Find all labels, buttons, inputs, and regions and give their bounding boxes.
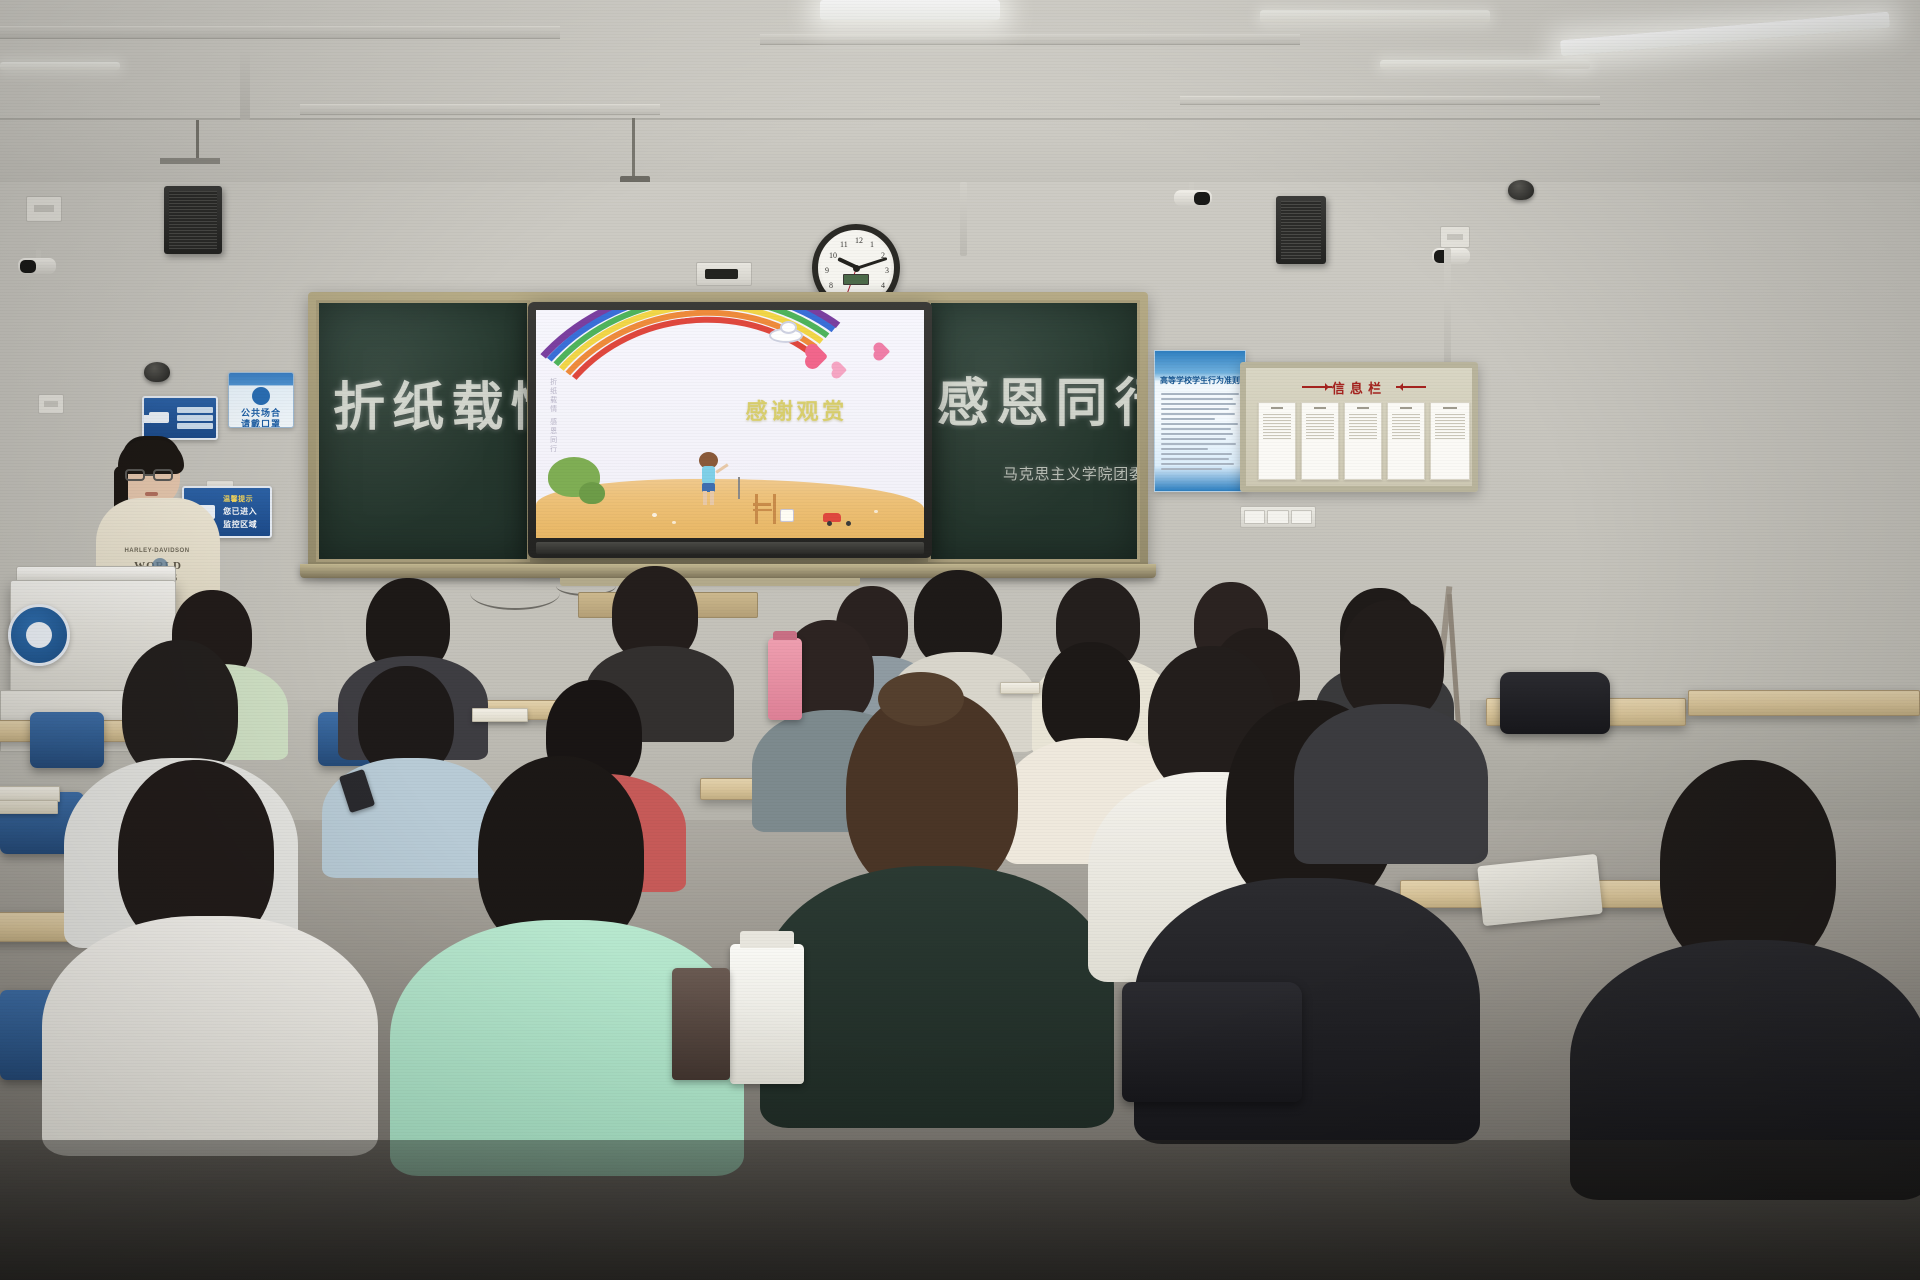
blackboard-right-text: 感恩同行: [937, 361, 1140, 436]
wall-outlet-right: [1440, 226, 1470, 248]
security-camera-left: [18, 250, 62, 278]
student-front-corner-right: [1580, 760, 1920, 1180]
wall-conduit-center: [960, 182, 967, 256]
book-stack-left-2: [0, 800, 58, 814]
sweatshirt-text-line1: HARLEY-DAVIDSON: [120, 548, 194, 558]
poster-title: 高等学校学生行为准则: [1155, 375, 1245, 386]
classroom-scene: 121234567891011 折纸载情 感恩同行 马克思主义学院团委: [0, 0, 1920, 1280]
glasses-bridge: [145, 474, 153, 476]
ceiling-light-right: [1260, 10, 1490, 23]
student-front-center-left: [400, 756, 730, 1156]
child-painting-figure: [691, 452, 725, 508]
interactive-display-bezel[interactable]: 感谢观赏 折纸载情 感恩同行: [528, 302, 932, 558]
wall-outlet-left: [38, 394, 64, 414]
heart-tiny: [875, 344, 891, 360]
blackboard-panel-right: 感恩同行 马克思主义学院团委: [928, 300, 1140, 562]
wall-conduit-right: [1444, 248, 1451, 368]
book-stack-right: [1000, 682, 1040, 694]
info-sheet-2: [1301, 402, 1339, 480]
speaker-hanger-rod: [196, 120, 199, 162]
clock-numeral: 11: [840, 240, 848, 249]
slide-caption: 感谢观赏: [746, 394, 848, 426]
student-conduct-poster: 高等学校学生行为准则: [1154, 350, 1246, 492]
ceiling-light-center: [820, 0, 1000, 20]
bush-shrub-small: [579, 482, 605, 504]
presentation-screen[interactable]: 感谢观赏 折纸载情 感恩同行: [536, 310, 924, 538]
ceiling-seam: [0, 118, 1920, 120]
arrow-left-icon: [1302, 386, 1332, 388]
paper-sheet-right: [1477, 854, 1603, 926]
dark-thermos: [672, 968, 730, 1080]
info-sheet-1: [1258, 402, 1296, 480]
slide-canvas: 感谢观赏 折纸载情 感恩同行: [536, 310, 924, 538]
light-switch-panel[interactable]: [1240, 506, 1316, 528]
ceiling-duct-mid: [300, 104, 660, 115]
ceiling-duct-far-right: [1180, 96, 1600, 105]
wall-speaker-right: [1276, 196, 1326, 264]
dome-camera-left: [144, 362, 170, 382]
glasses-lens-left: [125, 469, 145, 481]
microphone-boom-rod: [632, 118, 635, 184]
clock-numeral: 12: [855, 236, 863, 245]
information-board: 信息栏: [1240, 362, 1478, 492]
clock-numeral: 3: [885, 266, 889, 275]
dome-camera-right: [1508, 180, 1534, 200]
display-cable-left: [470, 576, 560, 610]
toy-car-wheel-left: [827, 521, 832, 526]
pebble-3: [874, 510, 878, 513]
floor-shadow: [0, 1140, 1920, 1280]
arrow-right-icon: [1396, 386, 1426, 388]
black-backpack-front: [1122, 982, 1302, 1102]
book-stack-center: [472, 708, 528, 722]
clock-numeral: 8: [829, 281, 833, 290]
student-front-left-large: [56, 760, 356, 1140]
wall-speaker-left: [164, 186, 222, 254]
glasses-lens-right: [153, 469, 173, 481]
paint-bucket: [780, 509, 794, 522]
presenter-mouth: [145, 492, 158, 496]
ceiling-light-mid-right: [1380, 60, 1590, 69]
easel-leg-right: [773, 494, 776, 524]
ceiling-conduit-drop: [240, 48, 250, 120]
student-side-right: [1300, 600, 1480, 850]
ceiling-light-left: [0, 62, 120, 70]
display-control-bar[interactable]: [536, 542, 924, 554]
toy-car: [823, 513, 841, 522]
security-camera-center: [1168, 182, 1212, 210]
info-sheet-3: [1344, 402, 1382, 480]
wall-outlet-top-left: [26, 196, 62, 222]
blackboard-left-text: 折纸载情: [333, 365, 530, 440]
clock-numeral: 10: [829, 251, 837, 260]
clock-numeral: 9: [825, 266, 829, 275]
university-crest: [8, 604, 70, 666]
black-backpack-right: [1500, 672, 1610, 734]
student-front-center: [770, 690, 1100, 1110]
easel-crossbar: [753, 509, 772, 511]
blackboard-signature: 马克思主义学院团委: [1003, 463, 1140, 484]
info-sheet-5: [1430, 402, 1470, 480]
mask-sign-line2: 请戴口罩: [229, 417, 293, 428]
pink-water-bottle: [768, 638, 802, 720]
blackboard-panel-left: 折纸载情: [316, 300, 530, 562]
clock-numeral: 4: [881, 281, 885, 290]
ceiling-duct-right: [760, 34, 1300, 45]
information-board-title: 信息栏: [1246, 378, 1472, 397]
surveillance-sign-secondary: [142, 396, 218, 440]
speaker-arm-left: [160, 158, 220, 164]
ceiling-duct-left: [0, 26, 560, 39]
side-desk-far-right: [1688, 690, 1920, 716]
mask-sign: 公共场合 请戴口罩: [228, 372, 294, 428]
white-thermos: [730, 944, 804, 1084]
info-sheet-4: [1387, 402, 1425, 480]
ir-receiver-box: [696, 262, 752, 286]
clock-numeral: 1: [870, 240, 874, 249]
brush-handle: [738, 477, 740, 499]
